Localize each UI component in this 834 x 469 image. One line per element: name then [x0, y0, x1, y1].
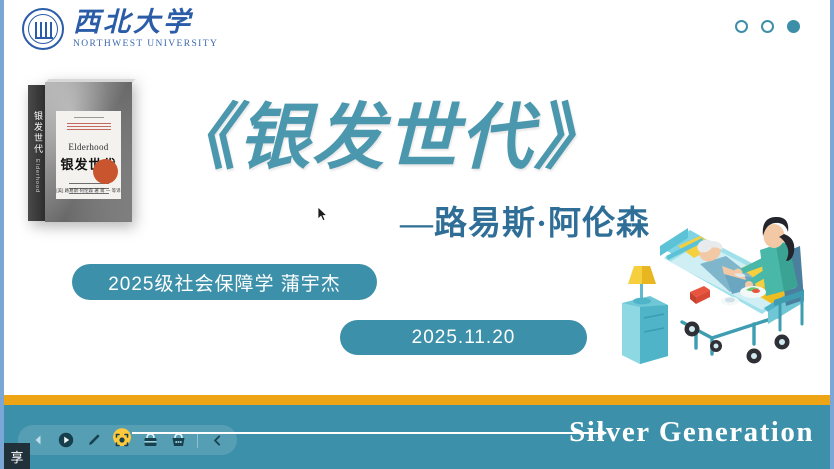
accent-stripe: [4, 395, 830, 405]
university-name-cn: 西北大学: [73, 9, 218, 36]
elderly-care-bed-illustration: [604, 196, 829, 381]
book-cover-rule: [74, 117, 104, 118]
basket-icon[interactable]: [166, 428, 190, 452]
book-cover-card: Elderhood 银发世代 [美] 路易斯·阿伦森 著 蒋 一 等译: [56, 111, 121, 199]
slide-indicator-dots[interactable]: [735, 20, 800, 33]
university-seal-icon: [22, 8, 64, 50]
laser-pointer-icon[interactable]: [110, 428, 134, 452]
slide-canvas: 西北大学 NORTHWEST UNIVERSITY 银发世代 Elderhood…: [4, 0, 830, 469]
university-logo-text: 西北大学 NORTHWEST UNIVERSITY: [73, 9, 218, 50]
footer-title: Silver Generation: [569, 416, 814, 449]
circle-filled-icon[interactable]: [787, 20, 800, 33]
toolbar-divider: [197, 432, 198, 448]
book-title-en: Elderhood: [68, 142, 108, 152]
university-logo: 西北大学 NORTHWEST UNIVERSITY: [22, 8, 218, 50]
chevron-left-icon[interactable]: [205, 428, 229, 452]
book-spine-title-cn: 银发世代: [32, 111, 45, 155]
toolbox-icon[interactable]: [138, 428, 162, 452]
pen-icon[interactable]: [82, 428, 106, 452]
page-edge-right: [830, 0, 834, 469]
presentation-toolbar[interactable]: [18, 425, 237, 455]
circle-outline-icon[interactable]: [735, 20, 748, 33]
mouse-cursor-icon: [317, 206, 328, 222]
book-spine: 银发世代 Elderhood: [28, 85, 45, 221]
circle-outline-icon[interactable]: [761, 20, 774, 33]
presentation-viewport: 西北大学 NORTHWEST UNIVERSITY 银发世代 Elderhood…: [0, 0, 834, 469]
page-title: 《银发世代》: [164, 78, 608, 183]
book-cover-image: 银发世代 Elderhood Elderhood 银发世代 [美] 路易斯·阿伦…: [28, 82, 132, 222]
book-author-credit: [美] 路易斯·阿伦森 著 蒋 一 等译: [56, 188, 121, 194]
book-cover-badge: [93, 159, 118, 184]
book-front-face: Elderhood 银发世代 [美] 路易斯·阿伦森 著 蒋 一 等译: [45, 82, 132, 222]
date-pill: 2025.11.20: [340, 320, 587, 355]
book-spine-title-en: Elderhood: [34, 159, 40, 193]
book-cover-microtext: [67, 123, 111, 133]
share-badge-icon[interactable]: 享: [4, 443, 30, 469]
student-info-pill: 2025级社会保障学 蒲宇杰: [72, 264, 377, 300]
university-name-en: NORTHWEST UNIVERSITY: [73, 40, 218, 50]
play-icon[interactable]: [54, 428, 78, 452]
